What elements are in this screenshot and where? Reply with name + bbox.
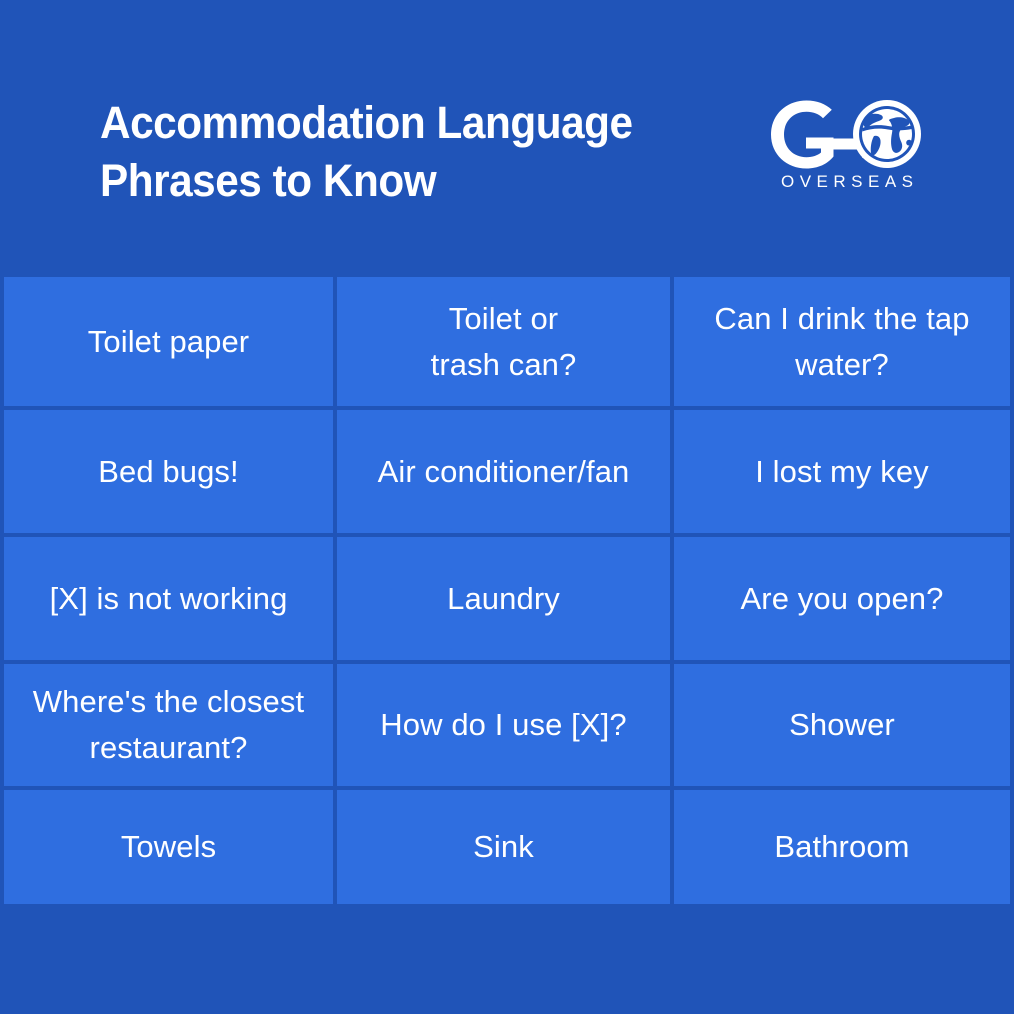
cell-label: Laundry (447, 576, 560, 622)
page-title: Accommodation Language Phrases to Know (100, 94, 683, 210)
header-banner: Accommodation Language Phrases to Know (0, 0, 1014, 273)
grid-cell: Where's the closest restaurant? (0, 664, 337, 790)
cell-label: Where's the closest restaurant? (33, 679, 304, 771)
grid-cell: How do I use [X]? (337, 664, 674, 790)
cell-label: Bathroom (774, 824, 909, 870)
logo-svg (762, 96, 932, 172)
grid-cell: Sink (337, 790, 674, 908)
grid-cell: Toilet paper (0, 273, 337, 410)
grid-cell: Air conditioner/fan (337, 410, 674, 537)
go-overseas-logo: OVERSEAS (762, 96, 932, 201)
globe-icon (853, 100, 921, 168)
cell-label: Towels (121, 824, 216, 870)
grid-cell: Bed bugs! (0, 410, 337, 537)
cell-label: Can I drink the tap water? (714, 296, 969, 388)
grid-cell: Laundry (337, 537, 674, 664)
cell-label: Bed bugs! (98, 449, 239, 495)
cell-label: Toilet or trash can? (431, 296, 577, 388)
grid-cell: I lost my key (674, 410, 1014, 537)
logo-mark (762, 96, 932, 172)
cell-label: [X] is not working (50, 576, 288, 622)
logo-wordmark: OVERSEAS (762, 172, 932, 192)
cell-label: I lost my key (755, 449, 929, 495)
grid-cell: [X] is not working (0, 537, 337, 664)
cell-label: Are you open? (741, 576, 944, 622)
grid-cell: Toilet or trash can? (337, 273, 674, 410)
cell-label: Shower (789, 702, 895, 748)
grid-cell: Towels (0, 790, 337, 908)
cell-label: Air conditioner/fan (378, 449, 630, 495)
cell-label: Toilet paper (88, 319, 249, 365)
cell-label: Sink (473, 824, 534, 870)
footer-band (0, 908, 1014, 1014)
grid-cell: Can I drink the tap water? (674, 273, 1014, 410)
cell-label: How do I use [X]? (380, 702, 626, 748)
grid-cell: Are you open? (674, 537, 1014, 664)
grid-cell: Shower (674, 664, 1014, 790)
grid-cell: Bathroom (674, 790, 1014, 908)
phrase-grid: Toilet paper Toilet or trash can? Can I … (0, 273, 1014, 908)
